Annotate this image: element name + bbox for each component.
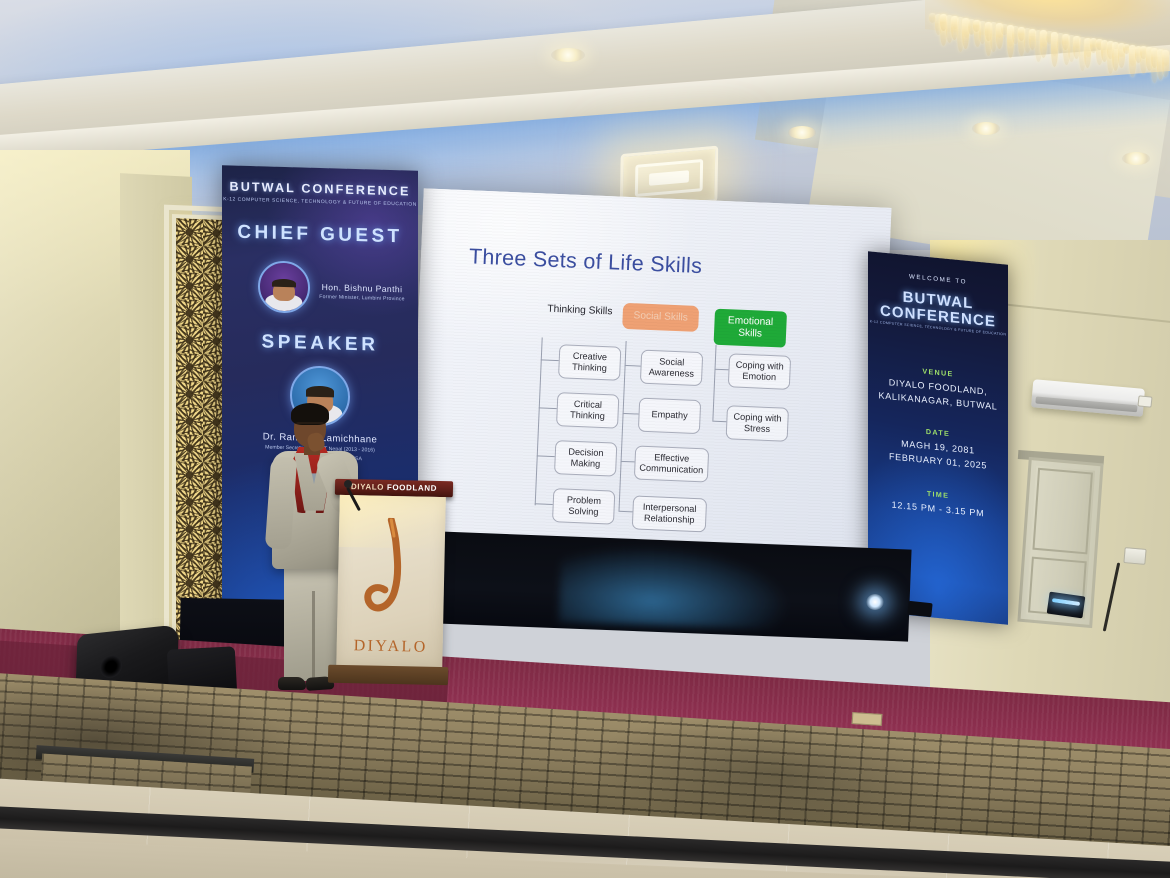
node-problem-solving: Problem Solving <box>552 488 615 525</box>
connector-trunk-emotional <box>712 345 716 421</box>
stage-blue-light-wash <box>559 542 792 630</box>
door-panel-upper <box>1032 468 1093 555</box>
column-header-emotional-skills: Emotional Skills <box>714 309 787 348</box>
podium-front-face: DIYALO <box>336 495 446 669</box>
ceiling-spotlight-icon <box>551 48 585 62</box>
chandelier-crystal-drop <box>1162 50 1169 77</box>
crystal-chandelier: [] <box>925 0 1170 86</box>
podium-header-prefix: DIYALO <box>351 482 387 492</box>
ceiling-spotlight-icon <box>788 126 816 139</box>
podium-lectern: DIYALO FOODLAND DIYALO <box>334 479 450 687</box>
connector-branch <box>715 369 729 371</box>
social-skills-label: Social Skills <box>633 310 688 323</box>
oil-lamp-flame-icon <box>358 517 424 636</box>
life-skills-diagram: Thinking Skills Social Skills Emotional … <box>527 303 867 557</box>
connector-branch <box>537 455 555 457</box>
connector-branch <box>535 503 553 505</box>
node-coping-with-emotion: Coping with Emotion <box>728 353 791 390</box>
stage-plaque <box>852 712 883 726</box>
person-shoe-left <box>278 677 306 690</box>
speaker-heading: SPEAKER <box>222 330 418 357</box>
node-effective-communication: Effective Communication <box>634 445 709 482</box>
microphone-head <box>344 480 352 488</box>
avatar-hair <box>272 278 296 287</box>
connector-trunk-thinking <box>535 337 543 505</box>
ceiling-spotlight-icon <box>1122 152 1150 165</box>
podium-header-text: DIYALO FOODLAND <box>335 482 453 493</box>
wall-socket-upper <box>1137 395 1152 407</box>
stage-par-light <box>866 594 884 610</box>
node-critical-thinking: Critical Thinking <box>556 392 619 429</box>
node-coping-with-stress: Coping with Stress <box>726 405 789 442</box>
screen-surface: Three Sets of Life Skills Thinking Skill… <box>409 188 892 572</box>
person-glasses <box>296 422 324 428</box>
column-header-social-skills: Social Skills <box>622 303 699 332</box>
node-social-awareness: Social Awareness <box>640 350 703 387</box>
chief-guest-heading: CHIEF GUEST <box>222 221 418 248</box>
node-decision-making: Decision Making <box>554 440 617 477</box>
wall-power-socket <box>1123 547 1146 565</box>
connector-branch <box>712 421 726 423</box>
connector-branch <box>618 511 632 513</box>
person-leg-seam <box>312 591 315 679</box>
connector-branch <box>621 461 635 463</box>
emotional-skills-label: Emotional Skills <box>728 315 774 339</box>
connector-branch <box>541 359 559 361</box>
stage-light-fixture <box>907 601 932 617</box>
ceiling-spotlight-icon <box>972 122 1000 135</box>
node-creative-thinking: Creative Thinking <box>558 344 621 381</box>
podium-base <box>328 665 448 686</box>
node-empathy: Empathy <box>638 398 701 435</box>
projection-screen: Three Sets of Life Skills Thinking Skill… <box>409 188 892 572</box>
thinking-skills-label: Thinking Skills <box>547 304 613 318</box>
node-interpersonal-relationship: Interpersonal Relationship <box>632 495 707 532</box>
connector-branch <box>623 413 639 415</box>
column-header-thinking-skills: Thinking Skills <box>545 304 615 319</box>
connector-branch <box>625 365 641 367</box>
photo-scene: [] Three Sets of Life Skills Thinking Sk… <box>0 0 1170 878</box>
connector-branch <box>539 407 557 409</box>
chief-guest-avatar <box>258 260 310 313</box>
podium-header-suffix: FOODLAND <box>387 483 437 493</box>
podium-brand-text: DIYALO <box>336 637 444 657</box>
